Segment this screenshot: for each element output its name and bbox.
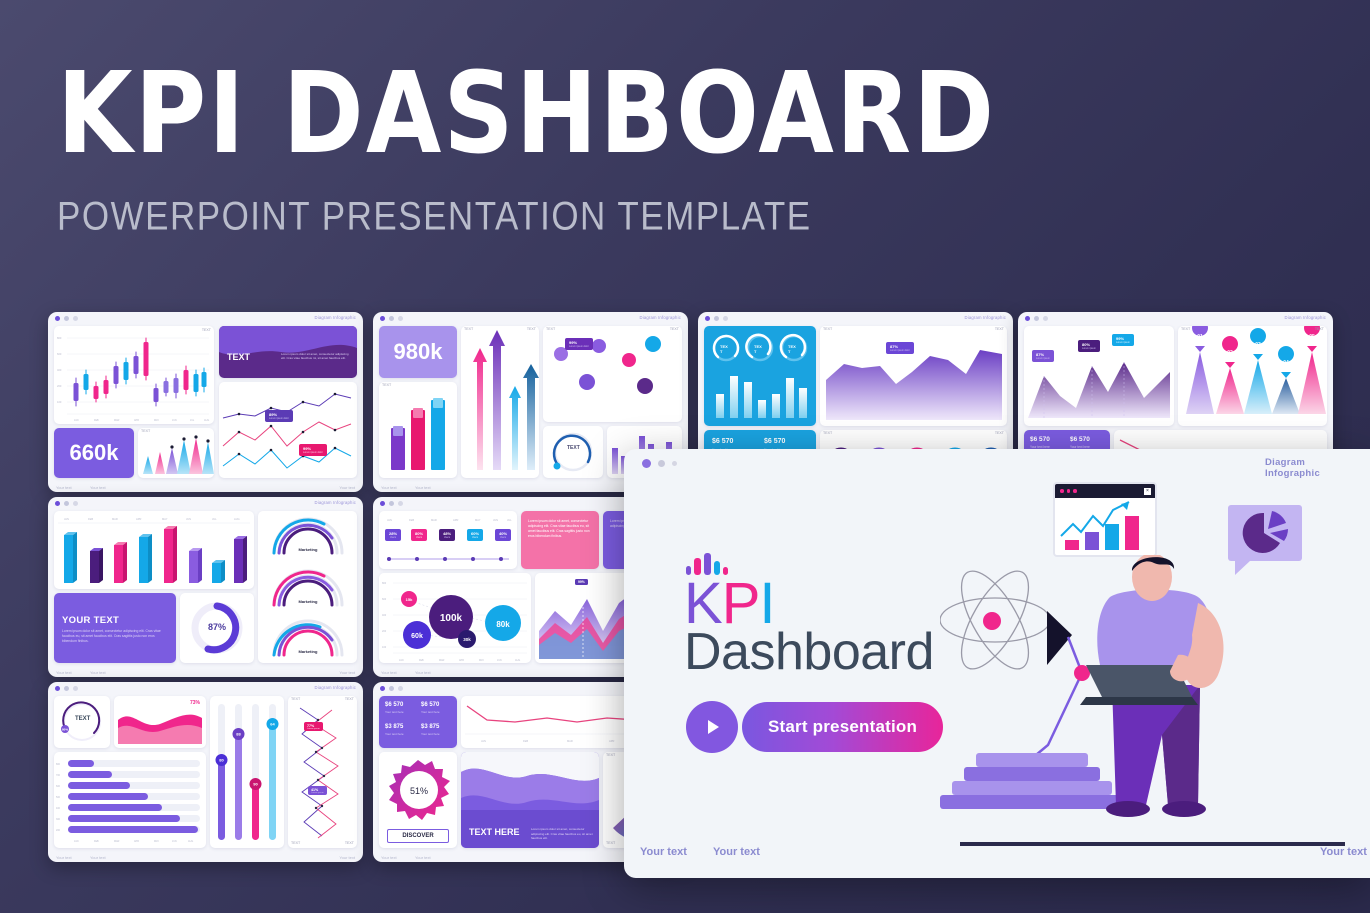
feature-heading: Dashboard [684, 622, 934, 682]
svg-text:APR: APR [459, 659, 464, 662]
svg-text:30k: 30k [463, 637, 471, 642]
window-dot-icon [380, 316, 385, 321]
svg-text:T: T [788, 349, 791, 354]
window-dot-icon [380, 501, 385, 506]
gauge-svg [543, 426, 603, 478]
body-text: Lorem ipsum dolor sit amet, consectetur … [531, 827, 593, 840]
badge-99: 99% Lorem ipsum dolor [299, 444, 327, 456]
money-value: $3 875 [385, 724, 403, 730]
svg-text:JAN: JAN [74, 840, 79, 843]
svg-text:FEB: FEB [88, 517, 93, 521]
money-sub: Your text here [421, 710, 440, 714]
svg-text:MAR: MAR [567, 739, 573, 743]
svg-text:FEB: FEB [419, 659, 424, 662]
candlestick-svg: 800600400 200100 [54, 326, 214, 424]
mini-window-titlebar: × [1055, 484, 1155, 498]
svg-text:200: 200 [57, 384, 62, 388]
window-dot-icon [389, 501, 394, 506]
footer-label-right: Your text [339, 485, 355, 490]
hbar-panel: 800700600500 400300200 JANFEBMARAPR MAYJ… [54, 752, 206, 848]
gauges-svg: MarketingMarketingMarketing [258, 511, 357, 663]
gauge-panel: TEXT [543, 426, 603, 478]
window-dot-icon [73, 501, 78, 506]
svg-text:80: 80 [219, 758, 224, 763]
window-dot-icon [64, 686, 69, 691]
bubble-chart-panel: 800600400200100 15k 100k 80k 60k 30k [379, 573, 531, 663]
play-icon [708, 720, 719, 734]
gauges-panel: MarketingMarketingMarketing [258, 511, 357, 663]
svg-text:MAR: MAR [439, 659, 445, 662]
footer-label: Your text [415, 670, 431, 675]
starburst-panel: 51% DISCOVER [379, 752, 457, 848]
window-dot-icon [723, 316, 728, 321]
badge-sub: Users [389, 536, 397, 539]
arrows-svg [461, 326, 539, 478]
tex-label: TEXT [141, 430, 150, 434]
money-value: $6 570 [421, 702, 439, 708]
window-dot-icon [398, 501, 403, 506]
svg-text:88: 88 [236, 732, 241, 737]
svg-text:MAR: MAR [114, 419, 120, 422]
hero-block: KPI DASHBOARD POWERPOINT PRESENTATION TE… [57, 58, 943, 234]
svg-text:600: 600 [382, 598, 387, 601]
svg-text:APR: APR [134, 419, 139, 422]
person-with-laptop [1080, 555, 1224, 817]
svg-text:03: 03 [1255, 342, 1261, 348]
arrows-panel: TEXT TEXT [461, 326, 539, 478]
badge-sub: Lorem ipsum dolor [890, 349, 910, 352]
badge-99: 99% Lorem ipsum dolor [565, 338, 593, 350]
block-headline: YOUR TEXT [62, 615, 119, 626]
badge-73: 73% [190, 700, 200, 706]
window-dot-icon [64, 501, 69, 506]
svg-text:JUN: JUN [172, 419, 177, 422]
badge-sub: Lorem ipsum [1082, 347, 1096, 350]
bubble-svg: 800600400200100 15k 100k 80k 60k 30k [379, 573, 531, 663]
badge-sub: Lorem ipsum [307, 728, 320, 730]
tex-label: TEXT [995, 328, 1004, 332]
feature-tag: Diagram Infographic [1265, 457, 1352, 479]
footer-label: Your text [56, 485, 72, 490]
window-dot-icon [1067, 489, 1071, 493]
footer-label: Your text [56, 855, 72, 860]
mini-chart-svg [1055, 498, 1155, 556]
svg-text:JAN: JAN [399, 659, 404, 662]
discover-button[interactable]: DISCOVER [387, 829, 449, 843]
svg-text:MAR: MAR [431, 518, 437, 522]
banner-headline: TEXT [227, 352, 250, 362]
thumbnail-slide-candlestick[interactable]: Diagram Infographic TEXT 800600400 20010… [48, 312, 363, 492]
tex-label: TEXT [464, 328, 473, 332]
svg-text:JUN: JUN [172, 840, 177, 843]
area-chart-panel: TEXT TEXT 87% Lorem ipsum dolor [820, 326, 1007, 426]
svg-text:100k: 100k [440, 613, 463, 624]
svg-text:JAN: JAN [481, 739, 486, 743]
kpi-value-panel: 660k [54, 428, 134, 478]
vbar-svg [379, 382, 457, 478]
svg-text:400: 400 [57, 368, 62, 372]
pin-cones-panel: TEXT TEXT [1178, 326, 1327, 426]
svg-text:80k: 80k [496, 620, 510, 629]
svg-text:FEB: FEB [94, 840, 99, 843]
svg-text:FEB: FEB [523, 739, 528, 743]
svg-text:JAN: JAN [387, 518, 392, 522]
svg-text:400: 400 [382, 614, 387, 617]
tex-label: TEXT [1315, 328, 1324, 332]
window-dot-icon [1025, 316, 1030, 321]
tex-label: TEXT [670, 328, 679, 332]
money-value: $6 570 [1030, 436, 1050, 443]
svg-text:Marketing: Marketing [299, 649, 318, 654]
svg-text:MAY: MAY [154, 840, 159, 843]
card-body-text: Lorem ipsum dolor sit amet, consectetur … [528, 519, 592, 539]
svg-text:700: 700 [56, 774, 61, 777]
badge-87: 87% Lorem ipsum dolor [886, 342, 914, 354]
svg-text:02: 02 [1227, 350, 1233, 356]
svg-text:200: 200 [382, 630, 387, 633]
svg-text:MAY: MAY [154, 419, 159, 422]
svg-text:800: 800 [56, 763, 61, 766]
start-presentation-button[interactable]: Start presentation [742, 702, 943, 752]
svg-text:500: 500 [56, 796, 61, 799]
sliders-svg: 80889064 [210, 696, 284, 848]
svg-text:T: T [754, 349, 757, 354]
svg-text:AUG: AUG [515, 659, 520, 662]
close-icon[interactable]: × [1144, 488, 1151, 495]
money-value: $6 570 [385, 702, 403, 708]
svg-text:Marketing: Marketing [299, 599, 318, 604]
timeline-badge: 60% Users [467, 529, 483, 541]
badge-sub: Users [415, 536, 423, 539]
svg-text:100: 100 [382, 646, 387, 649]
card-tag: Diagram Infographic [639, 315, 681, 320]
banner-body: Lorem ipsum dolor sit amet, consectetur … [281, 352, 351, 360]
svg-text:JUL: JUL [212, 517, 217, 521]
svg-text:T: T [720, 349, 723, 354]
svg-text:800: 800 [382, 582, 387, 585]
window-dot-icon [64, 316, 69, 321]
feature-window-dots [642, 459, 677, 468]
badge-sub: Lorem ipsum dolor [303, 451, 323, 454]
svg-text:JUL: JUL [507, 518, 512, 522]
badge-sub: Users [471, 536, 479, 539]
cone-chart-panel: TEXT [138, 428, 214, 478]
footer-label: Your text [56, 670, 72, 675]
svg-text:APR: APR [134, 840, 139, 843]
svg-text:600: 600 [56, 785, 61, 788]
window-dot-icon [705, 316, 710, 321]
ring-panel: 80% TEXT [54, 696, 110, 748]
mountain-panel: 87% Lorem ipsum 80% Lorem ipsum 99% Lore… [1024, 326, 1174, 426]
badge-sub: Lorem ipsum [311, 792, 324, 794]
atom-nucleus-icon [983, 612, 1001, 630]
tex-label: TEXT [823, 432, 832, 436]
pin-cones-svg: 0102030405 [1178, 326, 1327, 426]
tex-label: TEXT [345, 842, 354, 846]
tex-label: TEXT [546, 328, 555, 332]
timeline-badge: 48% Users [439, 529, 455, 541]
text-block-panel: YOUR TEXT Lorem ipsum dolor sit amet, co… [54, 593, 176, 663]
tex-label: TEXT [1181, 328, 1190, 332]
donut-panel: 87% [180, 593, 254, 663]
blue-kpi-panel: TEXT TEXT TEXT [704, 326, 816, 426]
svg-text:MAY: MAY [162, 517, 168, 521]
svg-text:JUN: JUN [186, 517, 191, 521]
kpi-value-panel: 980k [379, 326, 457, 378]
tex-label: TEXT [345, 698, 354, 702]
sliders-panel: 80889064 [210, 696, 284, 848]
scatter-panel: TEXT TEXT 99% Lorem ipsum dolor [543, 326, 682, 422]
block-body: Lorem ipsum dolor sit amet, consectetur … [62, 629, 167, 644]
svg-text:APR: APR [453, 518, 458, 522]
candlestick-chart-panel: TEXT 800600400 200100 [54, 326, 214, 424]
badge-89: 89% Lorem ipsum dolor [265, 410, 293, 422]
window-dot-icon [55, 686, 60, 691]
svg-text:15k: 15k [406, 597, 413, 602]
tex-label: TEXT [527, 328, 536, 332]
card-tag: Diagram Infographic [314, 685, 356, 690]
svg-text:MAR: MAR [112, 517, 118, 521]
badge-sub: Users [443, 536, 451, 539]
svg-text:100: 100 [57, 400, 62, 404]
column-svg: JANFEBMARAPR MAYJUNJULAUG [54, 511, 254, 589]
footer-label: Your text [713, 846, 760, 858]
window-dot-icon [1073, 489, 1077, 493]
badge-99: 99% Lorem ipsum [1112, 334, 1134, 346]
card-tag: Diagram Infographic [314, 500, 356, 505]
svg-text:60k: 60k [411, 633, 423, 640]
podium [940, 753, 1126, 809]
tex-label: TEXT [291, 698, 300, 702]
window-dot-icon [73, 316, 78, 321]
money-value: $6 570 [764, 438, 785, 445]
tex-label: TEXT [606, 754, 615, 758]
window-dot-icon [642, 459, 651, 468]
svg-text:AUG: AUG [234, 517, 240, 521]
svg-text:JUN: JUN [497, 659, 502, 662]
window-dot-icon [672, 461, 677, 466]
timeline-badge: 80% Users [411, 529, 427, 541]
zigzag-svg [288, 696, 357, 848]
svg-text:AUG: AUG [204, 419, 209, 422]
svg-text:300: 300 [56, 818, 61, 821]
footer-label: Your text [381, 670, 397, 675]
area-svg [820, 326, 1007, 426]
thumbnail-slide-sliders[interactable]: Diagram Infographic 80% TEXT 73% [48, 682, 363, 862]
speech-bubble [1228, 505, 1302, 561]
badge-77: 77% Lorem ipsum [304, 722, 323, 731]
money-value: $6 570 [712, 438, 733, 445]
tex-label: TEXT [995, 432, 1004, 436]
badge-99: 99% [575, 579, 588, 585]
window-dot-icon [398, 686, 403, 691]
tex-label: TEXT [202, 329, 211, 333]
window-dot-icon [1060, 489, 1064, 493]
window-dot-icon [1034, 316, 1039, 321]
card-tag: Diagram Infographic [964, 315, 1006, 320]
badge-80: 80% Lorem ipsum [1078, 340, 1100, 352]
badge-sub: Lorem ipsum [1036, 357, 1050, 360]
purple-wave-panel: TEXT HERE Lorem ipsum dolor sit amet, co… [461, 752, 599, 848]
scatter-svg [543, 326, 682, 422]
svg-text:200: 200 [56, 829, 61, 832]
svg-text:400: 400 [56, 807, 61, 810]
illustration-svg [940, 555, 1370, 855]
card-tag: Diagram Infographic [1284, 315, 1326, 320]
svg-text:51%: 51% [410, 786, 428, 796]
footer-label-right: Your text [1320, 846, 1367, 858]
cone-chart-svg [138, 428, 214, 478]
zigzag-panel: TEXT TEXT TEXT TEXT 77% Lorem ipsum 41% … [288, 696, 357, 848]
window-dot-icon [389, 316, 394, 321]
svg-text:APR: APR [609, 739, 614, 743]
ground-line [960, 842, 1345, 846]
footer-label-right: Your text [339, 855, 355, 860]
svg-text:90: 90 [253, 782, 258, 787]
card-body: JANFEBMARAPR MAYJUNJULAUG YOUR TEXT Lore… [54, 511, 357, 665]
window-dot-icon [658, 460, 665, 467]
headline: TEXT HERE [469, 828, 520, 838]
kpi-value: 660k [70, 440, 119, 466]
svg-text:FEB: FEB [94, 419, 99, 422]
svg-text:800: 800 [57, 336, 62, 340]
window-dot-icon [380, 686, 385, 691]
footer-label: Your text [640, 846, 687, 858]
svg-text:APR: APR [136, 517, 141, 521]
svg-text:MAR: MAR [114, 840, 120, 843]
timeline-panel: JANFEBMARAPR MAYJUNJUL 28% Users 80% Use… [379, 511, 517, 569]
svg-text:JAN: JAN [74, 419, 79, 422]
bar-chart-panel: TEXT [379, 382, 457, 478]
svg-text:05: 05 [1309, 334, 1315, 340]
badge-87: 87% Lorem ipsum [1032, 350, 1054, 362]
footer-label: Your text [90, 855, 106, 860]
window-dot-icon [55, 501, 60, 506]
thumbnail-slide-bars-donut[interactable]: Diagram Infographic JANFEBMARAPR MAYJUNJ… [48, 497, 363, 677]
tex-label: TEXT [75, 716, 90, 723]
svg-text:JAN: JAN [64, 517, 69, 521]
text-banner-panel: TEXT Lorem ipsum dolor sit amet, consect… [219, 326, 357, 378]
money-sub: Your text here [421, 732, 440, 736]
pink-text-card: Lorem ipsum dolor sit amet, consectetur … [521, 511, 599, 569]
badge-sub: Lorem ipsum [1116, 341, 1130, 344]
footer-label: Your text [90, 670, 106, 675]
tex-label: TEXT [382, 384, 391, 388]
footer-label: Your text [415, 855, 431, 860]
hbar-svg: 800700600500 400300200 JANFEBMARAPR MAYJ… [54, 752, 206, 848]
pie-chart-icon [1228, 505, 1302, 561]
tex-label: TEXT [291, 842, 300, 846]
badge-sub: Lorem ipsum dolor [269, 417, 289, 420]
window-dot-icon [55, 316, 60, 321]
tex-label: TEXT [606, 842, 615, 846]
footer-label: Your text [90, 485, 106, 490]
pink-wave-panel: 73% [114, 696, 206, 748]
card-body: 80% TEXT 73% [54, 696, 357, 850]
footer-label: Your text [381, 485, 397, 490]
svg-text:04: 04 [1283, 360, 1289, 366]
window-dot-icon [398, 316, 403, 321]
kpi-value: 980k [394, 339, 443, 365]
svg-text:80%: 80% [62, 728, 68, 732]
window-dot-icon [1043, 316, 1048, 321]
footer-label: Your text [381, 855, 397, 860]
card-tag: Diagram Infographic [314, 315, 356, 320]
money-grid-panel: $6 570 Your text here $6 570 Your text h… [379, 696, 457, 748]
svg-text:AUG: AUG [188, 840, 193, 843]
badge-sub: Users [499, 536, 507, 539]
svg-text:JUN: JUN [493, 518, 498, 522]
line-chart-panel: 89% Lorem ipsum dolor 99% Lorem ipsum do… [219, 382, 357, 478]
tex-label: TEXT [823, 328, 832, 332]
svg-text:FEB: FEB [409, 518, 414, 522]
multiline-svg [219, 382, 357, 478]
svg-text:Marketing: Marketing [299, 547, 318, 552]
page-title: KPI DASHBOARD [57, 58, 996, 170]
footer-label: Your text [415, 485, 431, 490]
kite-shape [1036, 611, 1090, 755]
blue-rings-svg: TEXT TEXT TEXT [704, 326, 816, 426]
svg-text:MAY: MAY [479, 659, 484, 662]
window-dot-icon [389, 686, 394, 691]
play-button[interactable] [686, 701, 738, 753]
svg-text:01: 01 [1197, 334, 1203, 340]
tex-label: TEXT [567, 446, 580, 452]
badge-sub: Lorem ipsum dolor [569, 345, 589, 348]
footer-label-right: Your text [339, 670, 355, 675]
column-chart-panel: JANFEBMARAPR MAYJUNJULAUG [54, 511, 254, 589]
window-dot-icon [73, 686, 78, 691]
svg-text:600: 600 [57, 352, 62, 356]
card-body: TEXT 800600400 200100 [54, 326, 357, 480]
badge-41: 41% Lorem ipsum [308, 786, 327, 795]
money-sub: Your text here [385, 732, 404, 736]
money-value: $6 570 [1070, 436, 1090, 443]
svg-text:64: 64 [270, 722, 275, 727]
page-subtitle: POWERPOINT PRESENTATION TEMPLATE [57, 194, 943, 240]
money-sub: Your text here [385, 710, 404, 714]
donut-value: 87% [180, 622, 254, 632]
timeline-badge: 40% Users [495, 529, 511, 541]
money-value: $3 875 [421, 724, 439, 730]
timeline-badge: 28% Users [385, 529, 401, 541]
svg-text:JUL: JUL [190, 419, 195, 422]
svg-text:MAY: MAY [475, 518, 481, 522]
window-dot-icon [714, 316, 719, 321]
mini-chart-window: × [1053, 482, 1157, 557]
